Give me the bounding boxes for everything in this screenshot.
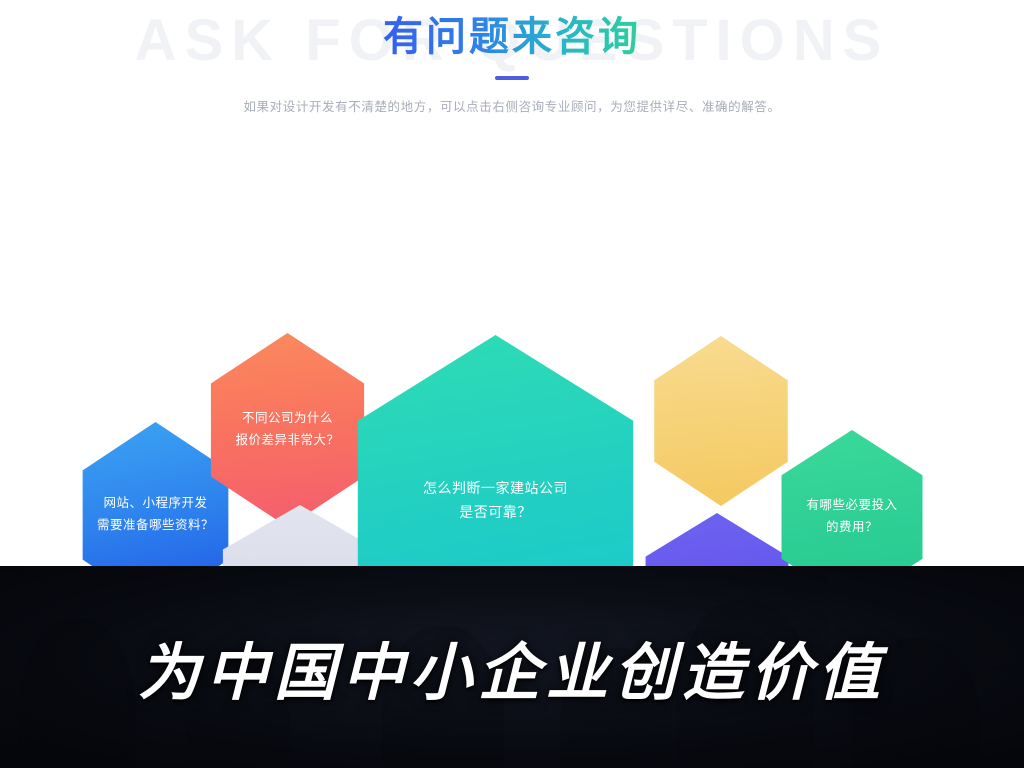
- hexagon-label: 不同公司为什么 报价差异非常大？: [235, 408, 339, 452]
- faq-section: ASK FOR QUESTIONS 有问题来咨询 如果对设计开发有不清楚的地方，…: [0, 0, 1024, 566]
- hexagon-line-2: 需要准备哪些资料？: [97, 518, 214, 532]
- faq-heading-block: ASK FOR QUESTIONS 有问题来咨询 如果对设计开发有不清楚的地方，…: [0, 0, 1024, 150]
- hexagon-line-2: 是否可靠？: [459, 504, 532, 520]
- hexagon-line-2: 的费用？: [826, 520, 878, 534]
- faq-hexagon-price-difference[interactable]: 不同公司为什么 报价差异非常大？: [206, 333, 369, 527]
- slogan-banner: 为中国中小企业创造价值: [0, 566, 1024, 768]
- title-divider: [495, 76, 529, 80]
- faq-hexagon-company-reliability[interactable]: 怎么判断一家建站公司 是否可靠？: [349, 335, 642, 566]
- hexagon-line-1: 有哪些必要投入: [806, 498, 897, 512]
- hexagon-cluster: 网站、小程序开发 需要准备哪些资料？ 不同公司为什么 报价差异非常大？ 怎么判断…: [0, 150, 1024, 550]
- faq-hexagon-website-materials[interactable]: 网站、小程序开发 需要准备哪些资料？: [78, 422, 233, 566]
- hexagon-label: 网站、小程序开发 需要准备哪些资料？: [97, 493, 214, 537]
- faq-hexagon-after-sales-service[interactable]: 后期服务怎么 保障？: [641, 513, 793, 566]
- hexagon-label: 有哪些必要投入 的费用？: [806, 495, 897, 539]
- hexagon-line-1: 网站、小程序开发: [103, 496, 207, 510]
- hexagon-line-1: 不同公司为什么: [242, 411, 333, 425]
- decorative-hexagon-yellow: [650, 336, 792, 506]
- page-title: 有问题来咨询: [383, 14, 641, 60]
- hexagon-label: 怎么判断一家建站公司 是否可靠？: [423, 476, 568, 525]
- decorative-hexagon-gray: [218, 505, 382, 566]
- faq-hexagon-necessary-costs[interactable]: 有哪些必要投入 的费用？: [777, 430, 927, 566]
- faq-subtitle: 如果对设计开发有不清楚的地方，可以点击右侧咨询专业顾问，为您提供详尽、准确的解答…: [243, 96, 780, 115]
- hexagon-line-2: 报价差异非常大？: [235, 433, 339, 447]
- hexagon-line-1: 怎么判断一家建站公司: [423, 480, 568, 496]
- banner-slogan: 为中国中小企业创造价值: [0, 566, 1024, 768]
- landing-page: ASK FOR QUESTIONS 有问题来咨询 如果对设计开发有不清楚的地方，…: [0, 0, 1024, 768]
